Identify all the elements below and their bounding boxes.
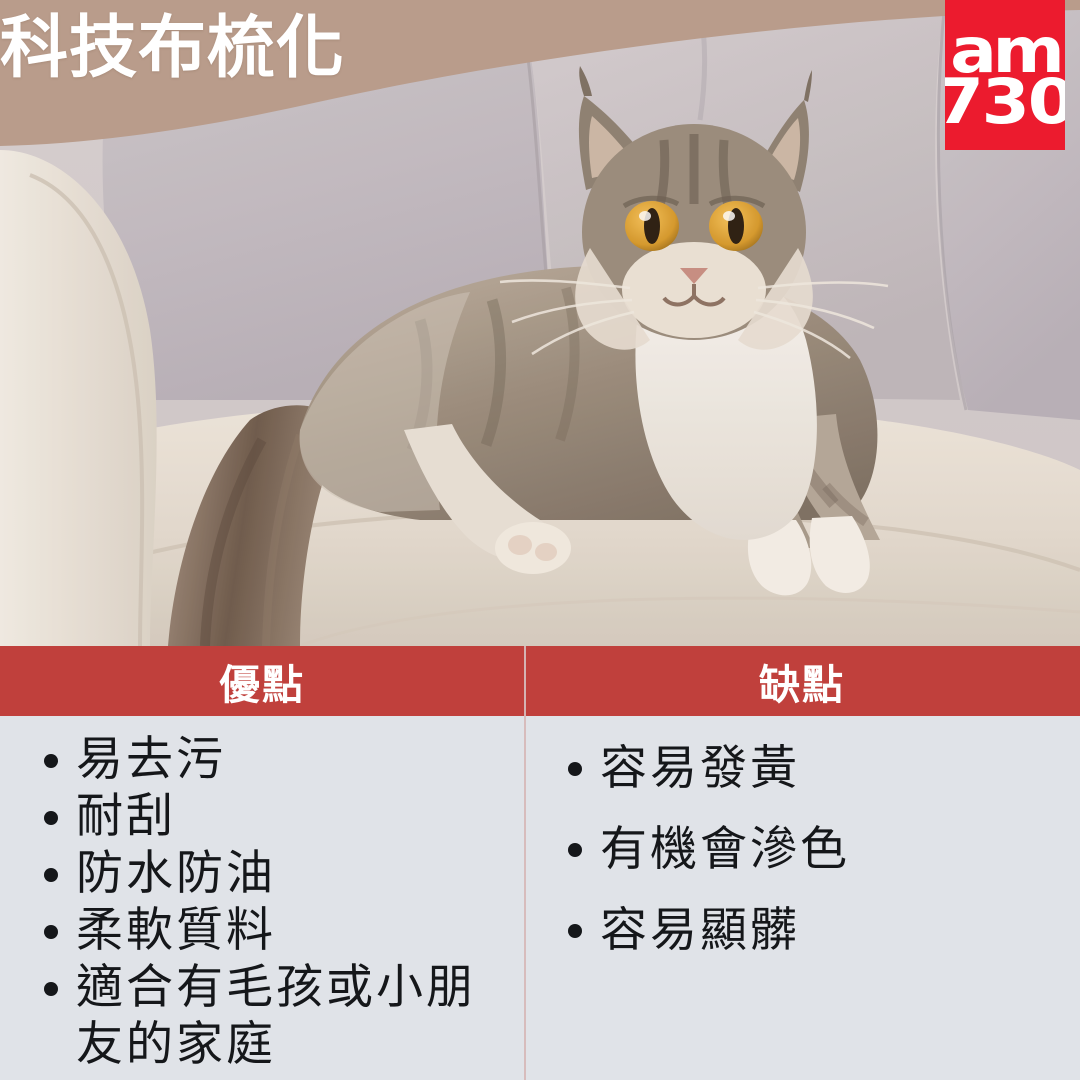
list-item: 柔軟質料: [40, 901, 514, 958]
column-divider: [524, 646, 526, 1080]
list-item: 適合有毛孩或小朋友的家庭: [40, 958, 514, 1072]
list-item: 耐刮: [40, 787, 514, 844]
list-item: 易去污: [40, 730, 514, 787]
list-item: 有機會滲色: [564, 819, 1070, 879]
column-pros: 易去污 耐刮 防水防油 柔軟質料 適合有毛孩或小朋友的家庭: [0, 716, 524, 1080]
table-header-row: 優點 缺點: [0, 646, 1080, 716]
logo-text-730: 730: [945, 77, 1065, 128]
am730-logo[interactable]: am 730: [945, 0, 1065, 150]
list-item: 容易顯髒: [564, 900, 1070, 960]
column-cons: 容易發黃 有機會滲色 容易顯髒: [524, 716, 1080, 1080]
column-header-cons: 缺點: [524, 646, 1080, 716]
cat-on-sofa-illustration: [0, 0, 1080, 646]
pros-cons-table: 優點 缺點 易去污 耐刮 防水防油 柔軟質料 適合有毛孩或小朋友的家庭 容易發黃…: [0, 646, 1080, 1080]
hero-photo: [0, 0, 1080, 646]
column-header-pros: 優點: [0, 646, 524, 716]
list-item: 容易發黃: [564, 738, 1070, 798]
infographic-card: 科技布梳化 am 730 優點 缺點 易去污 耐刮 防水防油 柔軟質料 適合有毛…: [0, 0, 1080, 1080]
list-item: 防水防油: [40, 844, 514, 901]
table-body-row: 易去污 耐刮 防水防油 柔軟質料 適合有毛孩或小朋友的家庭 容易發黃 有機會滲色…: [0, 716, 1080, 1080]
cons-list: 容易發黃 有機會滲色 容易顯髒: [564, 738, 1070, 960]
pros-list: 易去污 耐刮 防水防油 柔軟質料 適合有毛孩或小朋友的家庭: [40, 730, 514, 1072]
